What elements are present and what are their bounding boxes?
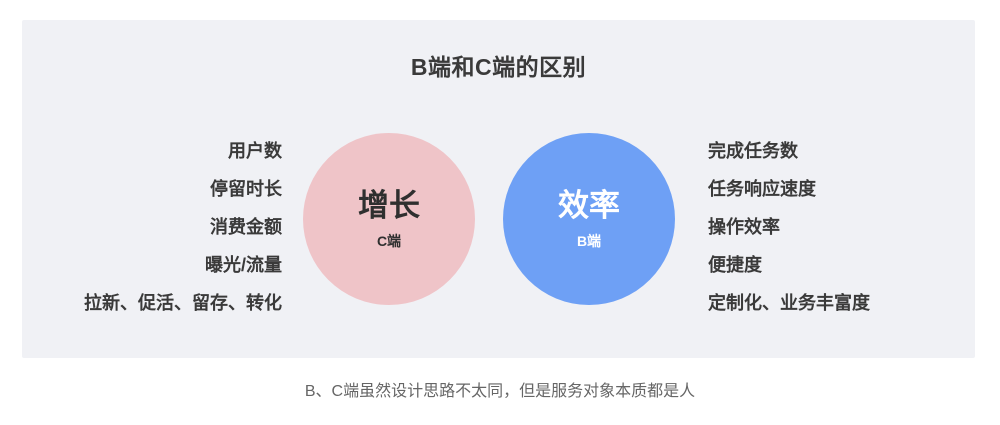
list-item: 操作效率 — [708, 208, 975, 246]
list-item: 拉新、促活、留存、转化 — [22, 284, 282, 322]
metrics-list-c-side: 用户数 停留时长 消费金额 曝光/流量 拉新、促活、留存、转化 — [22, 132, 282, 322]
list-item: 便捷度 — [708, 246, 975, 284]
venn-label-c-side: 增长 C端 — [303, 190, 475, 248]
metrics-list-b-side: 完成任务数 任务响应速度 操作效率 便捷度 定制化、业务丰富度 — [708, 132, 975, 322]
list-item: 用户数 — [22, 132, 282, 170]
list-item: 曝光/流量 — [22, 246, 282, 284]
list-item: 完成任务数 — [708, 132, 975, 170]
venn-label-b-side: 效率 B端 — [503, 190, 675, 248]
list-item: 定制化、业务丰富度 — [708, 284, 975, 322]
venn-label-c-side-subtitle: C端 — [303, 234, 475, 248]
venn-diagram: 增长 C端 效率 B端 — [303, 133, 675, 306]
list-item: 消费金额 — [22, 208, 282, 246]
venn-label-c-side-title: 增长 — [303, 190, 475, 221]
venn-label-b-side-subtitle: B端 — [503, 234, 675, 248]
slide-canvas: B端和C端的区别 用户数 停留时长 消费金额 曝光/流量 拉新、促活、留存、转化… — [0, 0, 1000, 425]
venn-label-b-side-title: 效率 — [503, 190, 675, 221]
page-title: B端和C端的区别 — [22, 48, 975, 82]
diagram-caption: B、C端虽然设计思路不太同，但是服务对象本质都是人 — [0, 377, 1000, 401]
list-item: 停留时长 — [22, 170, 282, 208]
list-item: 任务响应速度 — [708, 170, 975, 208]
diagram-card: B端和C端的区别 用户数 停留时长 消费金额 曝光/流量 拉新、促活、留存、转化… — [22, 20, 975, 358]
